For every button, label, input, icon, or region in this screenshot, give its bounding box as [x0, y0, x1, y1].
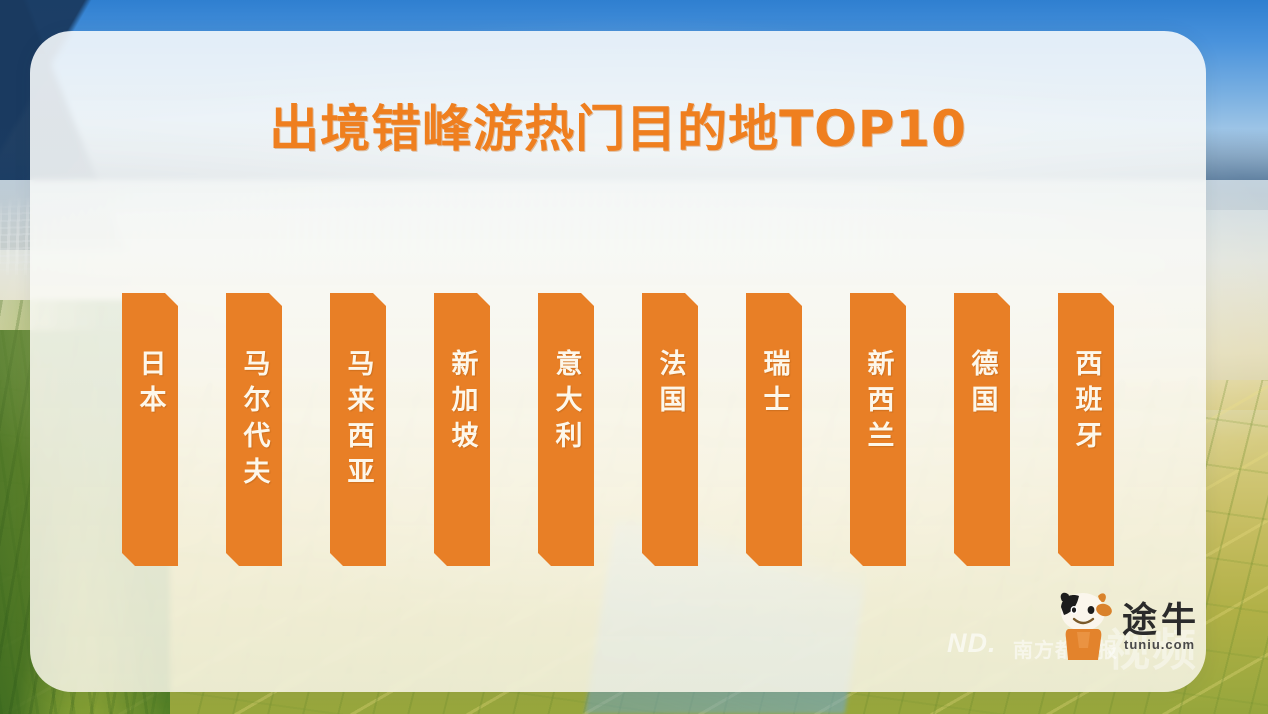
tuniu-brand-name: 途牛 — [1122, 592, 1200, 643]
ranking-banner-label: 法国 — [649, 349, 690, 566]
cow-mascot-icon — [1052, 588, 1114, 660]
ranking-banner-label: 瑞士 — [753, 349, 794, 566]
content-card: 出境错峰游热门目的地TOP10 日本 马尔代夫 马来西亚 新加坡 意大利 法国 … — [30, 31, 1206, 692]
ranking-banner-row: 日本 马尔代夫 马来西亚 新加坡 意大利 法国 瑞士 新西兰 — [30, 293, 1206, 569]
ranking-banner-4[interactable]: 新加坡 — [434, 293, 490, 566]
ranking-banner-label: 新加坡 — [441, 349, 482, 566]
ranking-banner-5[interactable]: 意大利 — [538, 293, 594, 566]
ranking-banner-label: 新西兰 — [857, 349, 898, 566]
page-title: 出境错峰游热门目的地TOP10 — [30, 89, 1206, 161]
ranking-banner-2[interactable]: 马尔代夫 — [226, 293, 282, 566]
ranking-banner-6[interactable]: 法国 — [642, 293, 698, 566]
infographic-scene: 出境错峰游热门目的地TOP10 日本 马尔代夫 马来西亚 新加坡 意大利 法国 … — [0, 0, 1268, 714]
ranking-banner-label: 意大利 — [545, 349, 586, 566]
ranking-banner-label: 西班牙 — [1065, 349, 1106, 566]
ranking-banner-3[interactable]: 马来西亚 — [330, 293, 386, 566]
ranking-banner-9[interactable]: 德国 — [954, 293, 1010, 566]
ranking-banner-8[interactable]: 新西兰 — [850, 293, 906, 566]
ranking-banner-10[interactable]: 西班牙 — [1058, 293, 1114, 566]
ranking-banner-label: 马来西亚 — [337, 349, 378, 566]
tuniu-brand-url: tuniu.com — [1124, 637, 1195, 652]
ranking-banner-7[interactable]: 瑞士 — [746, 293, 802, 566]
ranking-banner-1[interactable]: 日本 — [122, 293, 178, 566]
ranking-banner-label: 日本 — [129, 349, 170, 566]
ranking-banner-label: 马尔代夫 — [233, 349, 274, 566]
tuniu-logo: 途牛 tuniu.com — [1052, 588, 1252, 666]
ranking-banner-label: 德国 — [961, 349, 1002, 566]
